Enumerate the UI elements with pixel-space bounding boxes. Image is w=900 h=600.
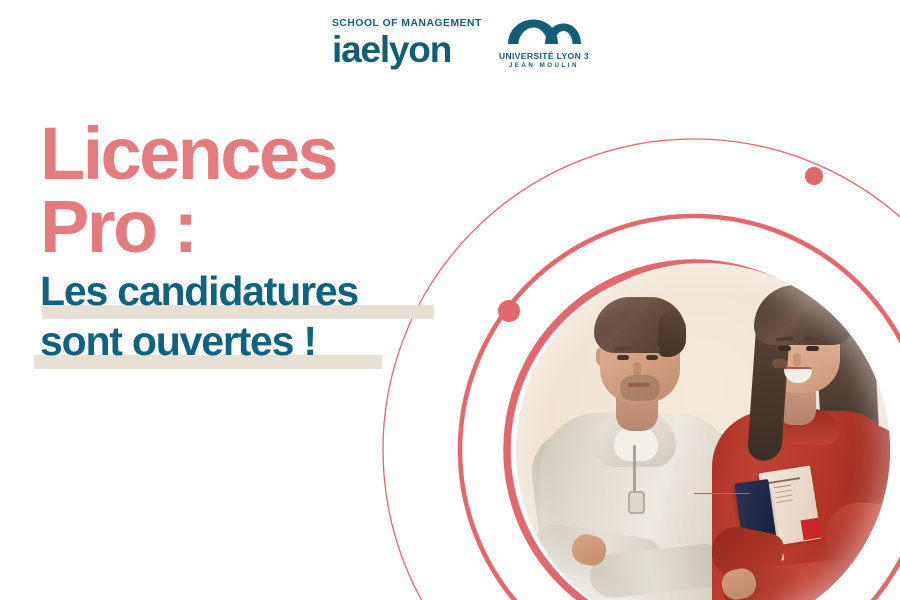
headline-line-4: sont ouvertes ! (40, 321, 470, 363)
logo-wordmark-group: SCHOOL OF MANAGEMENT iaelyon (332, 19, 482, 68)
logo-university-subname: JEAN MOULIN (509, 63, 579, 69)
logo-university-group: UNIVERSITÉ LYON 3 JEAN MOULIN (499, 17, 589, 71)
logo-university-name: UNIVERSITÉ LYON 3 (499, 52, 589, 61)
iaelyon-logo[interactable]: SCHOOL OF MANAGEMENT iaelyon UNIVERSITÉ … (332, 16, 572, 72)
headline-line-3-wrap: Les candidatures (40, 271, 470, 313)
students-photo (516, 263, 890, 600)
lyon3-arches-icon (506, 18, 582, 50)
headline-line-3: Les candidatures (40, 271, 470, 313)
poster-canvas: SCHOOL OF MANAGEMENT iaelyon UNIVERSITÉ … (0, 0, 900, 600)
headline-line-1: Licences (40, 118, 470, 191)
headline-block: Licences Pro : Les candidatures sont ouv… (40, 118, 470, 363)
logo-wordmark: iaelyon (332, 31, 451, 69)
headline-line-4-wrap: sont ouvertes ! (40, 321, 470, 363)
ring-dot-upper-right (805, 167, 823, 185)
headline-line-2: Pro : (40, 191, 470, 264)
